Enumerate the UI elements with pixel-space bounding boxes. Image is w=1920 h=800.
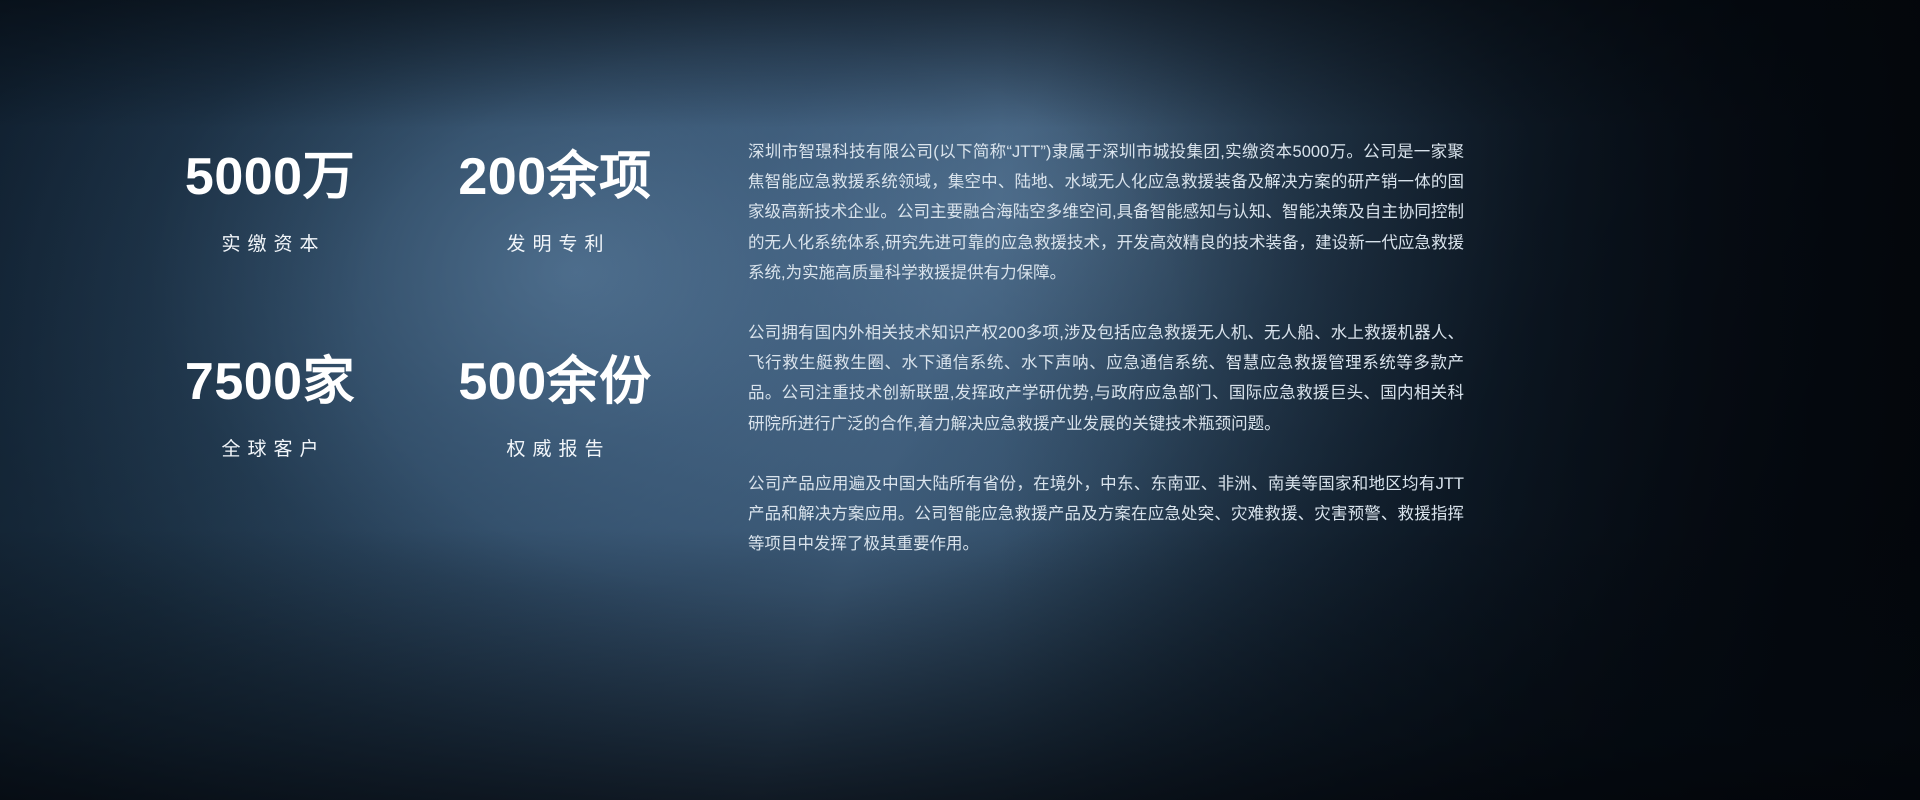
stat-invention-patents: 200余项 发明专利: [420, 150, 690, 355]
stat-label: 权威报告: [420, 434, 690, 461]
paragraph-market-coverage: 公司产品应用遍及中国大陆所有省份，在境外，中东、东南亚、非洲、南美等国家和地区均…: [748, 469, 1464, 560]
stat-value: 7500家: [120, 355, 420, 410]
company-profile-slide: 5000万 实缴资本 200余项 发明专利 7500家 全球客户 500余份 权…: [0, 0, 1920, 800]
stat-paid-in-capital: 5000万 实缴资本: [120, 150, 420, 355]
stat-label: 发明专利: [420, 229, 690, 256]
stat-value: 5000万: [120, 150, 420, 205]
key-figures-grid: 5000万 实缴资本 200余项 发明专利 7500家 全球客户 500余份 权…: [120, 150, 690, 461]
paragraph-company-overview: 深圳市智璟科技有限公司(以下简称“JTT”)隶属于深圳市城投集团,实缴资本500…: [748, 137, 1464, 288]
stat-label: 实缴资本: [120, 229, 420, 256]
paragraph-intellectual-property: 公司拥有国内外相关技术知识产权200多项,涉及包括应急救援无人机、无人船、水上救…: [748, 318, 1464, 439]
company-description: 深圳市智璟科技有限公司(以下简称“JTT”)隶属于深圳市城投集团,实缴资本500…: [748, 137, 1464, 559]
stat-label: 全球客户: [120, 434, 420, 461]
stat-value: 200余项: [420, 150, 690, 205]
stat-global-customers: 7500家 全球客户: [120, 355, 420, 461]
stat-authoritative-reports: 500余份 权威报告: [420, 355, 690, 461]
stat-value: 500余份: [420, 355, 690, 410]
